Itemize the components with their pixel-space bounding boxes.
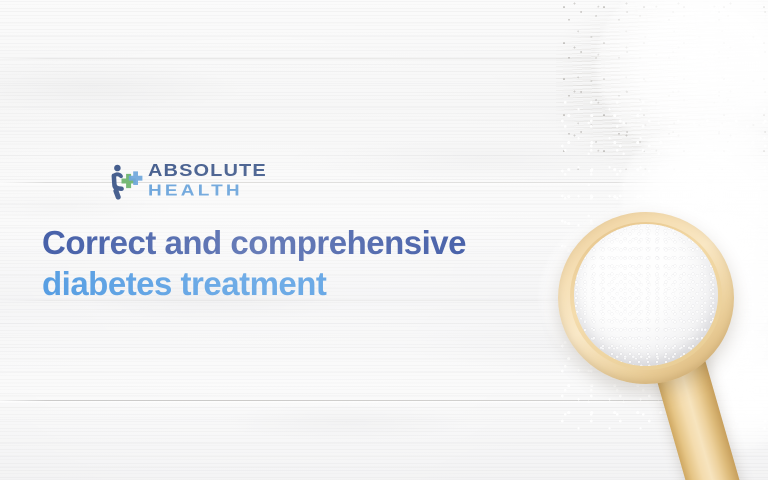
person-with-medical-cross-icon — [110, 164, 144, 200]
headline-line-2: diabetes treatment — [42, 263, 582, 304]
headline-line-1: Correct and comprehensive — [42, 222, 582, 263]
sugar-heap — [574, 224, 718, 366]
sugar-grain-texture — [574, 224, 718, 366]
logo-wordmark: ABSOLUTE HEALTH — [148, 162, 267, 202]
absolute-health-logo[interactable]: ABSOLUTE HEALTH — [110, 160, 267, 204]
headline: Correct and comprehensive diabetes treat… — [42, 222, 582, 304]
diabetes-treatment-banner: ABSOLUTE HEALTH Correct and comprehensiv… — [0, 0, 768, 480]
stethoscope — [430, 0, 768, 226]
spoon-bowl — [558, 212, 734, 384]
logo-text-health: HEALTH — [148, 183, 267, 199]
logo-text-absolute: ABSOLUTE — [148, 162, 267, 180]
